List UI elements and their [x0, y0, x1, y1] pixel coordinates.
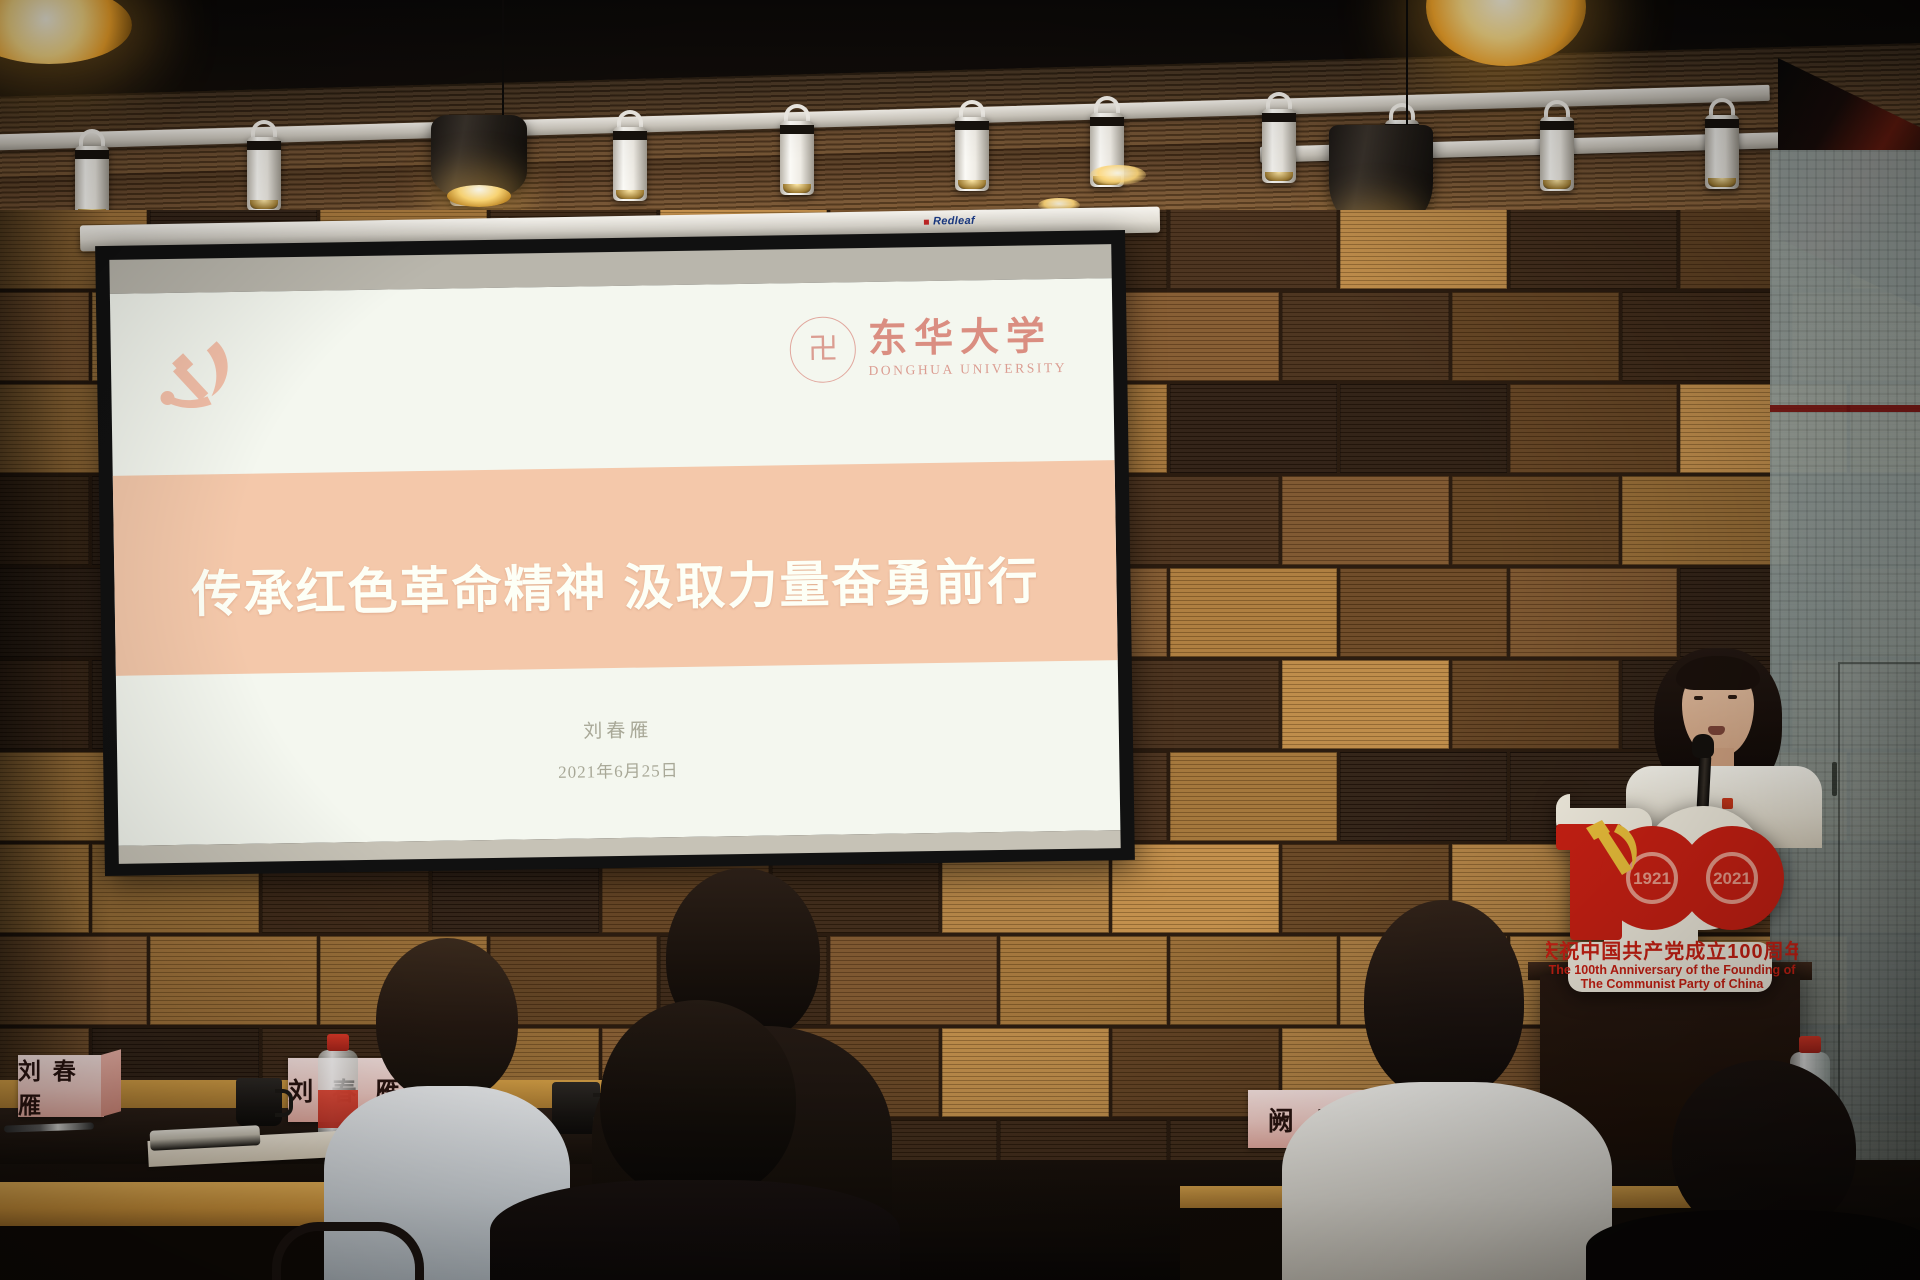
- wood-plank: [1340, 210, 1507, 289]
- wood-plank: [1112, 476, 1279, 565]
- track-spotlight: [247, 120, 281, 211]
- wood-plank: [1340, 384, 1507, 473]
- emblem-caption-en-2: The Communist Party of China: [1581, 977, 1765, 991]
- wood-plank: [1282, 660, 1449, 749]
- slide-presenter-name: 刘春雁: [117, 708, 1119, 751]
- university-logo: 卍 东华大学 DONGHUA UNIVERSITY: [790, 313, 1068, 383]
- track-spotlight: [1705, 98, 1739, 189]
- chair: [272, 1222, 424, 1280]
- meeting-room-photo: Redleaf 卍 东华大学 DONGHUA UNIVERSITY: [0, 0, 1920, 1280]
- person-shoulders: [1586, 1210, 1920, 1280]
- university-name-cn: 东华大学: [868, 317, 1067, 361]
- projector-brand-label: Redleaf: [933, 215, 975, 228]
- presentation-slide: 卍 东华大学 DONGHUA UNIVERSITY 传承红色革命精神 汲取力量奋…: [110, 278, 1121, 846]
- person-head: [376, 938, 518, 1102]
- wood-plank: [1510, 384, 1677, 473]
- wood-plank: [1452, 476, 1619, 565]
- name-card-text: 刘 春 雁: [18, 1052, 104, 1120]
- wall-red-stripe: [1770, 405, 1920, 412]
- university-name-en: DONGHUA UNIVERSITY: [868, 361, 1067, 378]
- pendant-lamp-left: [478, 0, 527, 201]
- track-spotlight: [613, 110, 647, 201]
- pendant-lamp-right: [1380, 0, 1433, 233]
- speaker-mouth: [1708, 726, 1725, 735]
- wood-plank: [1170, 752, 1337, 841]
- wood-plank: [1510, 210, 1677, 289]
- person-head: [600, 1000, 796, 1200]
- wood-plank: [0, 292, 89, 381]
- recessed-downlight: [1090, 165, 1146, 185]
- wood-plank: [0, 844, 89, 933]
- wood-plank: [0, 660, 89, 749]
- wood-plank: [1622, 476, 1789, 565]
- university-seal-icon: 卍: [790, 316, 857, 383]
- person-shirt: [1282, 1082, 1612, 1280]
- wood-plank: [1452, 660, 1619, 749]
- track-spotlight: [75, 129, 109, 220]
- wood-plank: [0, 476, 89, 565]
- wood-plank: [1452, 292, 1619, 381]
- wood-plank: [1340, 568, 1507, 657]
- track-spotlight: [955, 100, 989, 191]
- wood-plank: [1622, 292, 1789, 381]
- wood-plank: [1112, 660, 1279, 749]
- track-spotlight: [1540, 100, 1574, 191]
- track-spotlight: [1262, 92, 1296, 183]
- speaker-eye-left: [1694, 696, 1703, 700]
- wood-plank: [150, 936, 317, 1025]
- emblem-year-right: 2021: [1713, 869, 1751, 888]
- wood-plank: [1282, 476, 1449, 565]
- microphone-head-icon: [1692, 734, 1714, 758]
- name-card: 刘 春 雁: [18, 1055, 104, 1117]
- wood-plank: [1112, 844, 1279, 933]
- audience-person-front: [500, 1000, 880, 1280]
- wood-plank: [1282, 292, 1449, 381]
- wood-plank: [1000, 1120, 1167, 1160]
- name-card-flap: [101, 1049, 121, 1117]
- wood-plank: [942, 1028, 1109, 1117]
- audience-person-right: [1296, 900, 1596, 1280]
- wood-plank: [1340, 752, 1507, 841]
- emblem-year-left: 1921: [1633, 869, 1671, 888]
- hammer-and-sickle-emblem: [155, 334, 244, 413]
- coffee-mug: [236, 1078, 282, 1126]
- person-head: [1364, 900, 1524, 1100]
- wood-plank: [0, 936, 147, 1025]
- track-spotlight: [780, 104, 814, 195]
- audience-person-far-right: [1592, 1060, 1920, 1280]
- wood-plank: [1510, 568, 1677, 657]
- bottle-cap: [1799, 1036, 1821, 1053]
- speaker-eye-right: [1728, 695, 1737, 699]
- slide-footer: 刘春雁 2021年6月25日: [117, 708, 1120, 790]
- projection-screen: 卍 东华大学 DONGHUA UNIVERSITY 传承红色革命精神 汲取力量奋…: [95, 230, 1135, 876]
- slide-date: 2021年6月25日: [117, 749, 1119, 790]
- person-shoulders: [490, 1180, 900, 1280]
- university-seal-glyph: 卍: [791, 334, 855, 365]
- wood-plank: [1112, 292, 1279, 381]
- wood-plank: [1000, 936, 1167, 1025]
- wood-plank: [1170, 210, 1337, 289]
- wood-plank: [1170, 568, 1337, 657]
- wood-plank: [1170, 384, 1337, 473]
